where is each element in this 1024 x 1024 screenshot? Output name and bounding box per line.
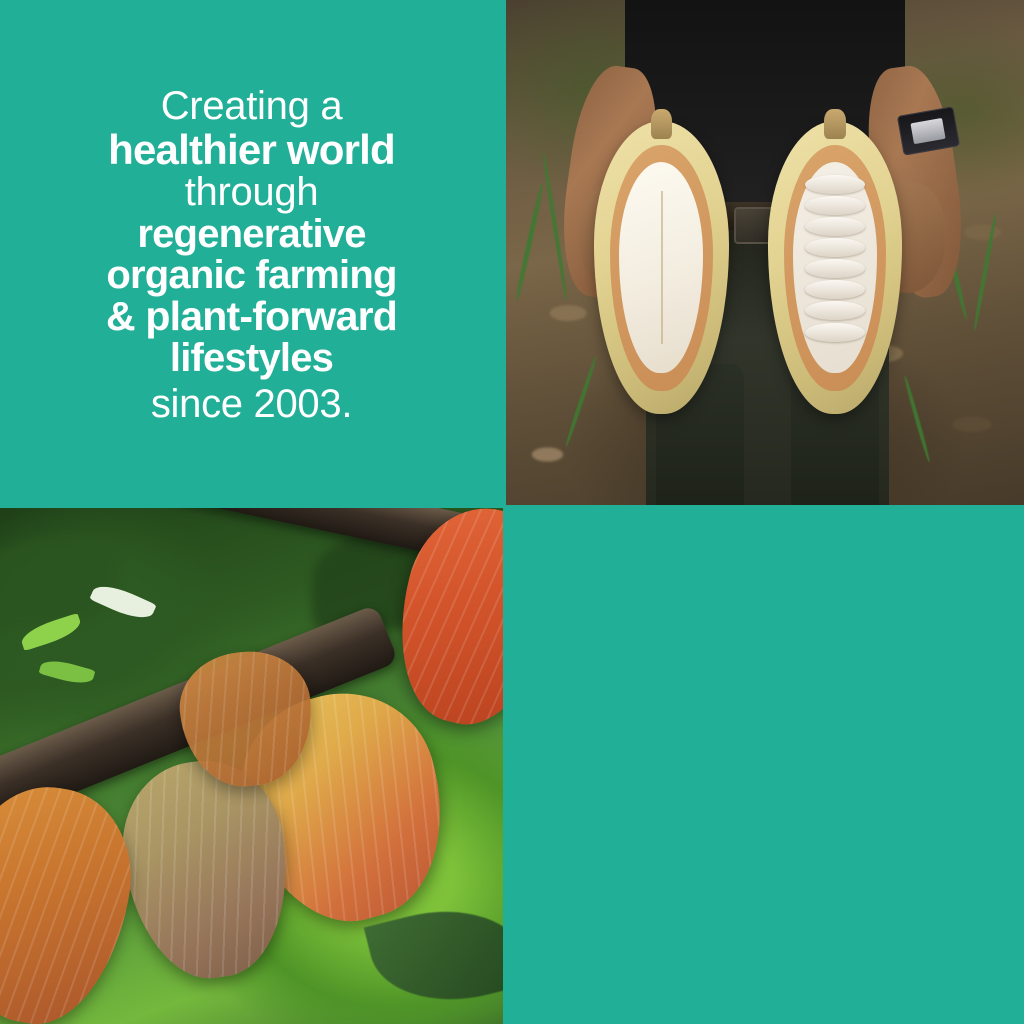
cacao-pod-orange-left [0, 774, 145, 1024]
headline-panel: Creating a healthier world through regen… [0, 0, 503, 505]
cacao-bean [805, 238, 865, 257]
promo-collage: Creating a healthier world through regen… [0, 0, 1024, 1024]
headline-block: Creating a healthier world through regen… [0, 0, 503, 505]
cacao-bean [805, 217, 865, 236]
photo-backdrop-foliage [0, 508, 503, 1024]
cacao-bean [805, 301, 865, 320]
photo-backdrop-forest-floor [506, 0, 1024, 505]
cacao-pod-halves-photo [506, 0, 1024, 505]
pod-stem [651, 109, 673, 138]
pod-ridges [0, 774, 145, 1024]
headline-line-2: healthier world [108, 129, 395, 172]
cacao-bean [805, 196, 865, 215]
cacao-pods-on-tree-photo [0, 508, 503, 1024]
pod-husk-inner [610, 145, 712, 391]
pod-husk-inner [784, 145, 886, 391]
headline-line-3: through [185, 172, 319, 213]
cacao-bean [805, 175, 865, 194]
pod-beans-cluster [793, 162, 877, 374]
cacao-bean [805, 280, 865, 299]
headline-line-1: Creating a [161, 86, 343, 127]
cacao-bean [805, 323, 865, 342]
certifications-panel: Certified B ® Corporation [506, 508, 1024, 1024]
headline-line-5: organic farming [106, 255, 396, 296]
pod-pulp-white [619, 162, 703, 374]
pod-seam [661, 191, 663, 343]
headline-line-4: regenerative [137, 214, 365, 255]
watch-face [911, 118, 946, 144]
pod-stem [824, 109, 846, 138]
headline-line-8: since 2003. [151, 384, 352, 425]
headline-line-6: & plant-forward [106, 296, 397, 338]
background-leaf [0, 539, 120, 629]
cacao-bean [805, 259, 865, 278]
new-leaf-sprout [39, 656, 96, 688]
headline-line-7: lifestyles [170, 338, 333, 379]
certification-badge-grid: Certified B ® Corporation [1012, 1016, 1024, 1024]
